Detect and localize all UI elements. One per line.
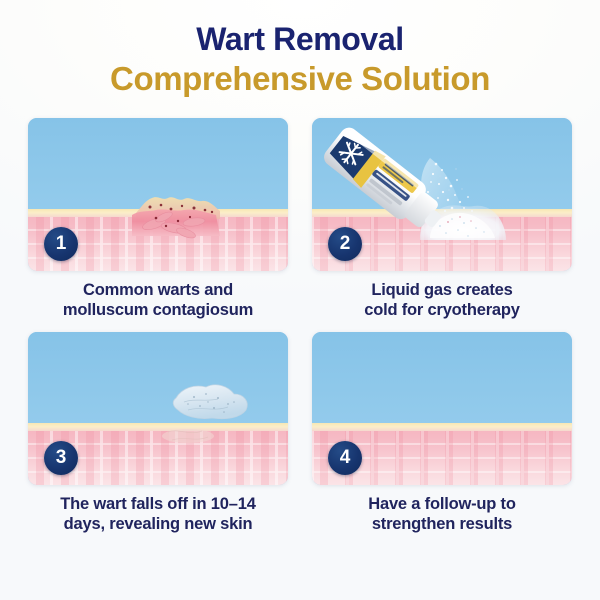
header: Wart Removal Comprehensive Solution: [0, 20, 600, 99]
step-illustration-4: 4: [312, 332, 572, 485]
cryotherapy-spray-can: [314, 122, 464, 242]
steps-grid: 1 Common warts and molluscum contagiosum: [28, 118, 572, 534]
page-title-primary: Wart Removal: [0, 20, 600, 58]
step-caption-4: Have a follow-up to strengthen results: [312, 494, 572, 534]
step-card-4: 4 Have a follow-up to strengthen results: [312, 332, 572, 534]
step-illustration-1: 1: [28, 118, 288, 271]
step-illustration-3: 3: [28, 332, 288, 485]
step-number-badge-1: 1: [44, 227, 78, 261]
step-number-badge-4: 4: [328, 441, 362, 475]
step-caption-1: Common warts and molluscum contagiosum: [28, 280, 288, 320]
step-card-1: 1 Common warts and molluscum contagiosum: [28, 118, 288, 320]
step-illustration-2: 2: [312, 118, 572, 271]
step-caption-2: Liquid gas creates cold for cryotherapy: [312, 280, 572, 320]
wart-removal-infographic: Wart Removal Comprehensive Solution: [0, 0, 600, 600]
step-card-3: 3 The wart falls off in 10–14 days, reve…: [28, 332, 288, 534]
step-card-2: 2 Liquid gas creates cold for cryotherap…: [312, 118, 572, 320]
step-number-badge-3: 3: [44, 441, 78, 475]
page-title-secondary: Comprehensive Solution: [0, 59, 600, 99]
step-caption-3: The wart falls off in 10–14 days, reveal…: [28, 494, 288, 534]
air-layer: [312, 332, 572, 425]
step-number-badge-2: 2: [328, 227, 362, 261]
